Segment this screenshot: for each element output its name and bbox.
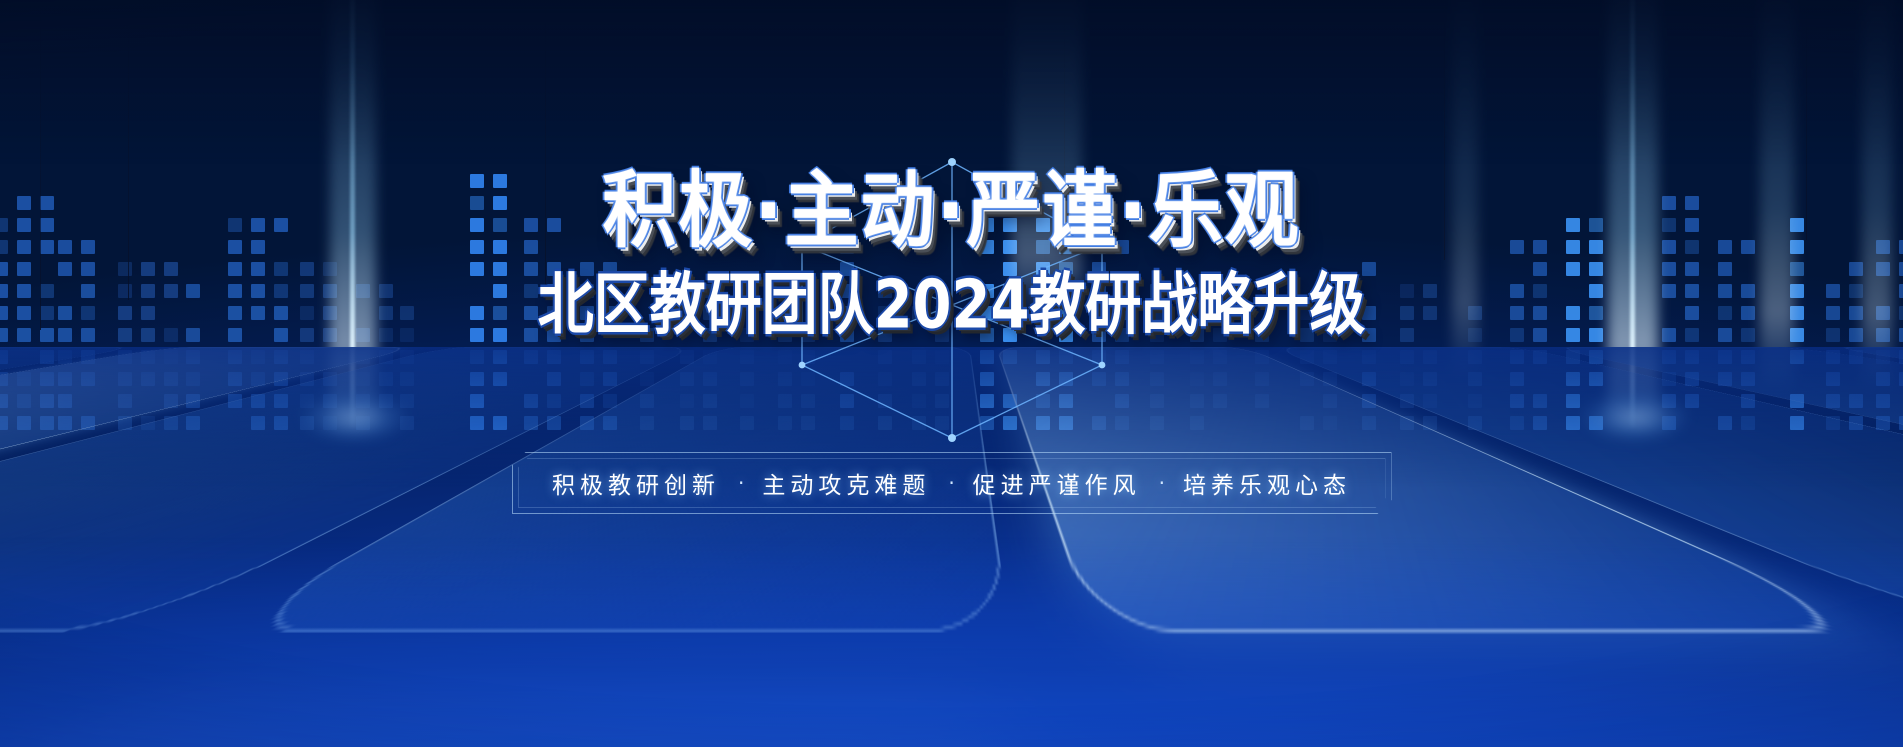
building-window: [1510, 240, 1524, 254]
tagline-item: 主动攻克难题: [762, 466, 930, 500]
building-window: [778, 350, 792, 364]
building-window: [1300, 372, 1314, 386]
building-window: [1213, 328, 1227, 342]
building-window: [912, 394, 926, 408]
building-window: [1510, 284, 1524, 298]
tagline-item: 积极教研创新: [552, 466, 720, 500]
building-window: [1790, 350, 1804, 364]
building-window: [1741, 240, 1755, 254]
building-window: [1036, 350, 1050, 364]
building-window: [1423, 372, 1437, 386]
skyline-antenna: [545, 0, 546, 300]
skyline-decoration: [0, 0, 1903, 430]
skyline-antenna: [1064, 0, 1065, 250]
building-window: [164, 262, 178, 276]
building-window: [1400, 306, 1414, 320]
building-window: [603, 394, 617, 408]
building-window: [1092, 328, 1106, 342]
building-window: [40, 416, 54, 430]
building-window: [186, 416, 200, 430]
building-window: [1423, 416, 1437, 430]
building-window: [1533, 240, 1547, 254]
building-window: [470, 196, 484, 210]
building-window: [1589, 350, 1603, 364]
building-window: [1589, 262, 1603, 276]
building-window: [1115, 350, 1129, 364]
skyline-building: [524, 218, 561, 430]
building-window: [300, 284, 314, 298]
building-window: [980, 240, 994, 254]
building-window: [141, 328, 155, 342]
building-window: [1190, 394, 1204, 408]
building-window: [1718, 262, 1732, 276]
building-window: [680, 350, 694, 364]
building-window: [1718, 306, 1732, 320]
building-window: [400, 372, 414, 386]
building-window: [703, 350, 717, 364]
light-beam-left-pool: [300, 390, 410, 442]
building-window: [1533, 350, 1547, 364]
building-window: [840, 328, 854, 342]
building-window: [1036, 394, 1050, 408]
building-window: [1150, 350, 1164, 364]
building-window: [0, 372, 8, 386]
building-window: [878, 284, 892, 298]
building-window: [470, 350, 484, 364]
building-window: [1741, 372, 1755, 386]
building-window: [228, 218, 242, 232]
building-window: [1092, 350, 1106, 364]
building-window: [40, 218, 54, 232]
building-window: [493, 284, 507, 298]
building-window: [0, 328, 8, 342]
building-window: [300, 350, 314, 364]
building-window: [1400, 372, 1414, 386]
building-window: [840, 372, 854, 386]
light-beam-mid-right: [1452, 0, 1478, 380]
building-window: [1059, 372, 1073, 386]
skyline-building: [980, 196, 1017, 430]
hexagon-wireframe: [742, 150, 1162, 455]
building-window: [251, 306, 265, 320]
building-window: [703, 416, 717, 430]
building-window: [17, 218, 31, 232]
building-window: [1826, 306, 1840, 320]
building-window: [17, 416, 31, 430]
skyline-building: [1190, 306, 1227, 430]
building-window: [118, 262, 132, 276]
building-window: [164, 350, 178, 364]
building-window: [1849, 416, 1863, 430]
building-window: [1826, 372, 1840, 386]
skyline-building: [1300, 306, 1337, 430]
building-window: [801, 394, 815, 408]
building-window: [1662, 350, 1676, 364]
building-window: [524, 284, 538, 298]
building-window: [1876, 372, 1890, 386]
building-window: [640, 394, 654, 408]
building-window: [1849, 328, 1863, 342]
light-beam-right-glow: [1608, 0, 1658, 430]
building-window: [1849, 262, 1863, 276]
building-window: [1566, 372, 1580, 386]
building-window: [935, 394, 949, 408]
building-window: [1059, 394, 1073, 408]
building-window: [547, 372, 561, 386]
building-window: [840, 416, 854, 430]
building-window: [1300, 416, 1314, 430]
building-window: [1826, 350, 1840, 364]
building-window: [778, 372, 792, 386]
building-window: [547, 262, 561, 276]
building-window: [703, 284, 717, 298]
building-window: [40, 284, 54, 298]
building-window: [118, 328, 132, 342]
skyline-building: [680, 284, 717, 430]
building-window: [58, 394, 72, 408]
building-window: [980, 196, 994, 210]
building-window: [1115, 372, 1129, 386]
building-window: [251, 394, 265, 408]
light-beam-center-glow: [1012, 0, 1082, 320]
building-window: [1092, 306, 1106, 320]
banner-subtitle: 北区教研团队2024教研战略升级: [538, 270, 1366, 342]
building-window: [1468, 372, 1482, 386]
building-window: [1510, 328, 1524, 342]
building-window: [1468, 306, 1482, 320]
skyline-building: [1255, 328, 1269, 430]
building-window: [470, 416, 484, 430]
building-window: [1685, 306, 1699, 320]
building-window: [1741, 284, 1755, 298]
building-window: [1003, 240, 1017, 254]
building-window: [81, 416, 95, 430]
building-window: [141, 372, 155, 386]
building-window: [547, 350, 561, 364]
building-window: [524, 218, 538, 232]
building-window: [1003, 218, 1017, 232]
building-window: [274, 262, 288, 276]
building-window: [703, 394, 717, 408]
building-window: [603, 284, 617, 298]
building-window: [1899, 240, 1903, 254]
building-window: [1876, 394, 1890, 408]
building-window: [1150, 416, 1164, 430]
building-window: [0, 284, 8, 298]
building-window: [1685, 262, 1699, 276]
building-window: [379, 328, 393, 342]
building-window: [1662, 240, 1676, 254]
building-window: [0, 350, 8, 364]
building-window: [1115, 240, 1129, 254]
building-window: [1718, 328, 1732, 342]
building-window: [0, 416, 8, 430]
building-window: [524, 328, 538, 342]
building-window: [1899, 306, 1903, 320]
building-window: [1741, 394, 1755, 408]
building-window: [274, 416, 288, 430]
building-window: [81, 350, 95, 364]
building-window: [680, 394, 694, 408]
building-window: [1468, 394, 1482, 408]
building-window: [400, 350, 414, 364]
tagline-bar: 积极教研创新·主动攻克难题·促进严谨作风·培养乐观心态: [512, 452, 1392, 514]
building-window: [1566, 306, 1580, 320]
building-window: [17, 394, 31, 408]
building-window: [1213, 350, 1227, 364]
building-window: [1468, 416, 1482, 430]
building-window: [323, 284, 337, 298]
building-window: [186, 394, 200, 408]
building-window: [801, 372, 815, 386]
building-window: [703, 372, 717, 386]
building-window: [1533, 306, 1547, 320]
building-window: [81, 306, 95, 320]
tagline-item: 培养乐观心态: [1183, 466, 1351, 500]
skyline-building: [228, 218, 288, 430]
floor-tile: [0, 347, 1473, 747]
building-window: [740, 372, 754, 386]
building-window: [274, 306, 288, 320]
building-window: [840, 394, 854, 408]
building-window: [1255, 394, 1269, 408]
building-window: [1566, 328, 1580, 342]
building-window: [493, 372, 507, 386]
building-window: [118, 306, 132, 320]
building-window: [1423, 394, 1437, 408]
building-window: [1036, 262, 1050, 276]
building-window: [1190, 328, 1204, 342]
building-window: [118, 284, 132, 298]
building-window: [1059, 328, 1073, 342]
building-window: [356, 350, 370, 364]
building-window: [58, 306, 72, 320]
building-window: [801, 416, 815, 430]
building-window: [1790, 416, 1804, 430]
building-window: [164, 394, 178, 408]
building-window: [1741, 350, 1755, 364]
building-window: [118, 394, 132, 408]
building-window: [1468, 328, 1482, 342]
building-window: [17, 306, 31, 320]
building-window: [547, 218, 561, 232]
building-window: [935, 306, 949, 320]
building-window: [980, 416, 994, 430]
building-window: [228, 394, 242, 408]
building-window: [141, 284, 155, 298]
building-window: [1400, 416, 1414, 430]
building-window: [141, 262, 155, 276]
skyline-building: [778, 306, 815, 430]
building-window: [980, 284, 994, 298]
building-window: [274, 218, 288, 232]
building-window: [400, 328, 414, 342]
building-window: [680, 306, 694, 320]
building-window: [274, 350, 288, 364]
building-window: [1876, 416, 1890, 430]
skyline-building: [1092, 240, 1129, 430]
light-beam-left-glow: [330, 0, 376, 430]
building-window: [493, 416, 507, 430]
building-window: [840, 262, 854, 276]
skyline-building: [1510, 240, 1547, 430]
building-window: [1115, 328, 1129, 342]
building-window: [1190, 372, 1204, 386]
skyline-building: [0, 196, 54, 430]
building-window: [1323, 350, 1337, 364]
building-window: [778, 394, 792, 408]
building-window: [164, 328, 178, 342]
building-window: [141, 306, 155, 320]
building-window: [1115, 394, 1129, 408]
building-window: [547, 416, 561, 430]
tagline-separator: ·: [730, 471, 752, 495]
building-window: [40, 240, 54, 254]
building-window: [300, 262, 314, 276]
building-window: [1362, 394, 1376, 408]
building-window: [58, 372, 72, 386]
building-window: [1876, 328, 1890, 342]
building-window: [1510, 306, 1524, 320]
building-window: [186, 328, 200, 342]
building-window: [1685, 218, 1699, 232]
building-window: [878, 328, 892, 342]
building-window: [1790, 284, 1804, 298]
skyline-building: [118, 262, 178, 430]
building-window: [740, 416, 754, 430]
building-window: [1685, 196, 1699, 210]
building-window: [1003, 350, 1017, 364]
building-window: [524, 350, 538, 364]
building-window: [912, 372, 926, 386]
building-window: [251, 240, 265, 254]
building-window: [1255, 328, 1269, 342]
building-window: [1255, 350, 1269, 364]
light-beam-left-core: [350, 0, 355, 430]
building-window: [228, 306, 242, 320]
building-window: [1826, 284, 1840, 298]
building-window: [580, 284, 594, 298]
building-window: [1899, 372, 1903, 386]
building-window: [580, 328, 594, 342]
building-window: [547, 328, 561, 342]
building-window: [580, 394, 594, 408]
building-window: [1566, 218, 1580, 232]
building-window: [1589, 240, 1603, 254]
building-window: [1003, 284, 1017, 298]
building-window: [878, 416, 892, 430]
building-window: [470, 372, 484, 386]
building-window: [40, 196, 54, 210]
building-window: [228, 240, 242, 254]
floor-tile: [1824, 347, 1903, 633]
building-window: [1790, 306, 1804, 320]
building-window: [640, 416, 654, 430]
building-window: [1849, 350, 1863, 364]
building-window: [1213, 372, 1227, 386]
building-window: [1036, 240, 1050, 254]
building-window: [470, 174, 484, 188]
building-window: [58, 350, 72, 364]
building-window: [1059, 262, 1073, 276]
building-window: [1150, 372, 1164, 386]
building-window: [640, 372, 654, 386]
building-window: [1092, 240, 1106, 254]
building-window: [1300, 328, 1314, 342]
skyline-building: [186, 284, 200, 430]
building-window: [186, 284, 200, 298]
building-window: [740, 394, 754, 408]
floor-bottom-fade: [0, 537, 1903, 747]
building-window: [778, 328, 792, 342]
building-window: [1566, 394, 1580, 408]
building-window: [1092, 416, 1106, 430]
building-window: [251, 262, 265, 276]
building-window: [251, 218, 265, 232]
building-window: [935, 350, 949, 364]
building-window: [1300, 350, 1314, 364]
building-window: [1036, 284, 1050, 298]
building-window: [1849, 394, 1863, 408]
floor-tile: [0, 347, 142, 633]
building-window: [1400, 394, 1414, 408]
building-window: [603, 262, 617, 276]
building-window: [580, 306, 594, 320]
building-window: [118, 372, 132, 386]
skyline-building: [1400, 284, 1437, 430]
building-window: [0, 240, 8, 254]
building-window: [580, 350, 594, 364]
floor-tile: [1548, 347, 1903, 633]
building-window: [58, 416, 72, 430]
building-window: [1741, 416, 1755, 430]
building-window: [1003, 394, 1017, 408]
building-window: [1003, 262, 1017, 276]
building-window: [81, 284, 95, 298]
building-window: [1190, 350, 1204, 364]
building-window: [40, 350, 54, 364]
tagline-separator: ·: [940, 471, 962, 495]
building-window: [40, 394, 54, 408]
building-window: [603, 350, 617, 364]
building-window: [40, 328, 54, 342]
building-window: [1510, 372, 1524, 386]
building-window: [912, 306, 926, 320]
building-window: [1589, 328, 1603, 342]
building-window: [251, 416, 265, 430]
building-window: [580, 416, 594, 430]
tagline-separator: ·: [1151, 471, 1173, 495]
building-window: [81, 372, 95, 386]
building-window: [186, 372, 200, 386]
building-window: [1003, 328, 1017, 342]
building-window: [164, 372, 178, 386]
building-window: [1718, 240, 1732, 254]
building-window: [379, 372, 393, 386]
building-window: [1662, 372, 1676, 386]
building-window: [1059, 306, 1073, 320]
skyline-building: [912, 306, 949, 430]
building-window: [251, 284, 265, 298]
building-window: [840, 284, 854, 298]
building-window: [1036, 416, 1050, 430]
light-beam-right-core: [1630, 0, 1635, 430]
building-window: [470, 394, 484, 408]
building-window: [356, 372, 370, 386]
building-window: [1685, 328, 1699, 342]
building-window: [1323, 372, 1337, 386]
building-window: [1059, 240, 1073, 254]
